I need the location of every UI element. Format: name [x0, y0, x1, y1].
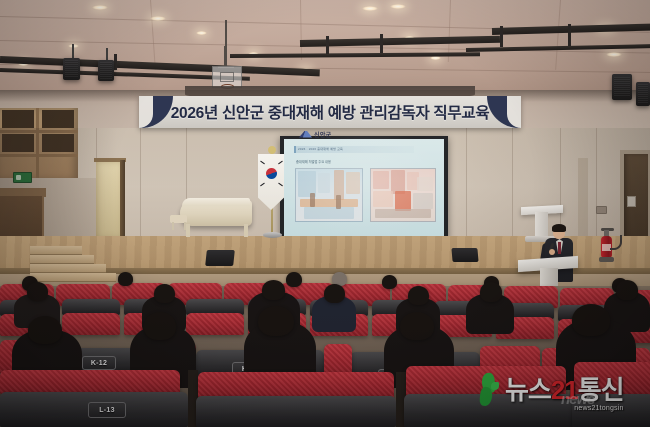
presenter-hair — [552, 224, 566, 232]
recessed-ceiling-light — [430, 56, 441, 60]
event-banner: 2026년 신안군 중대재해 예방 관리감독자 직무교육 — [139, 96, 521, 128]
auditorium-photo: 2026 · 2026 중대재해 예방 교육 중대재해 처벌법 주요 내용 — [0, 0, 650, 427]
audience-head — [616, 280, 638, 300]
piano-stool-leg — [172, 222, 174, 230]
shinan-county-logo-icon — [299, 131, 312, 138]
audience-head — [324, 284, 345, 303]
recessed-ceiling-light — [606, 52, 622, 57]
audience-head — [144, 312, 176, 340]
slide-photo-right — [370, 168, 436, 222]
banner-logo-text: 신안군 — [314, 130, 331, 139]
audience-member — [286, 272, 302, 287]
flag-finial — [268, 146, 276, 154]
seat[interactable] — [196, 396, 396, 427]
folded-basketball-hoop — [224, 46, 227, 68]
audience-head — [262, 280, 285, 300]
slide-subtitle: 중대재해 처벌법 주요 내용 — [296, 159, 331, 164]
audience-member — [118, 272, 133, 286]
ceiling-speaker — [98, 60, 114, 81]
seat-label-k12: K-12 — [82, 356, 116, 370]
audience-head — [27, 282, 48, 301]
ceiling-speaker — [636, 82, 650, 106]
stage-monitor-speaker — [451, 248, 478, 262]
audience-head — [480, 282, 502, 302]
slide-photo-left — [295, 168, 363, 222]
piano-leg — [186, 224, 190, 237]
recessed-ceiling-light — [390, 4, 406, 9]
seat[interactable] — [62, 313, 120, 335]
watermark-ghost-text: news — [561, 391, 595, 408]
presenter-hand — [549, 249, 555, 255]
audience-head — [408, 286, 429, 305]
audience-head — [400, 312, 434, 340]
watermark-text: 뉴스21통신 news21tongsin news — [505, 377, 624, 403]
stage-steps — [30, 246, 116, 284]
folded-basketball-hoop — [220, 72, 234, 82]
seat[interactable] — [198, 372, 394, 398]
korea-peninsula-map-icon — [476, 373, 502, 407]
fire-extinguisher-stand — [599, 257, 614, 262]
projection-screen: 2026 · 2026 중대재해 예방 교육 중대재해 처벌법 주요 내용 — [284, 139, 444, 237]
ceiling-speaker — [63, 58, 80, 80]
taeguk-symbol — [266, 168, 277, 179]
audience-head — [28, 316, 62, 344]
truss-post — [380, 34, 383, 53]
seat-label-l13: L-13 — [88, 402, 126, 418]
folded-basketball-hoop — [225, 20, 227, 48]
piano-stool-leg — [184, 222, 186, 230]
banner-logo: 신안군 — [299, 128, 371, 140]
truss-post — [500, 26, 503, 47]
ceiling-speaker — [612, 74, 632, 100]
truss-post — [568, 24, 571, 46]
lectern-column — [535, 212, 548, 238]
truss-post — [326, 36, 329, 54]
stage-monitor-speaker — [205, 250, 235, 266]
banner-title: 2026년 신안군 중대재해 예방 관리감독자 직무교육 — [139, 96, 521, 128]
piano-leg — [244, 224, 248, 237]
truss-post — [114, 54, 117, 70]
recessed-ceiling-light — [362, 6, 378, 11]
audience-head — [154, 284, 175, 303]
recessed-ceiling-light — [196, 31, 207, 35]
news-agency-watermark: 뉴스21통신 news21tongsin news — [476, 370, 644, 410]
recessed-ceiling-light — [92, 5, 108, 10]
seat[interactable] — [186, 313, 244, 335]
piano-lid — [182, 198, 250, 206]
presenter-tie — [558, 242, 561, 254]
flag-stand-base — [263, 232, 282, 238]
audience-member — [382, 275, 397, 289]
slide-header-text: 2026 · 2026 중대재해 예방 교육 — [298, 146, 343, 153]
watermark-brand-main: 뉴스 — [505, 375, 551, 405]
seat[interactable] — [0, 370, 180, 394]
audience-head — [258, 306, 294, 336]
audience-head — [572, 304, 610, 336]
recessed-ceiling-light — [150, 16, 166, 21]
